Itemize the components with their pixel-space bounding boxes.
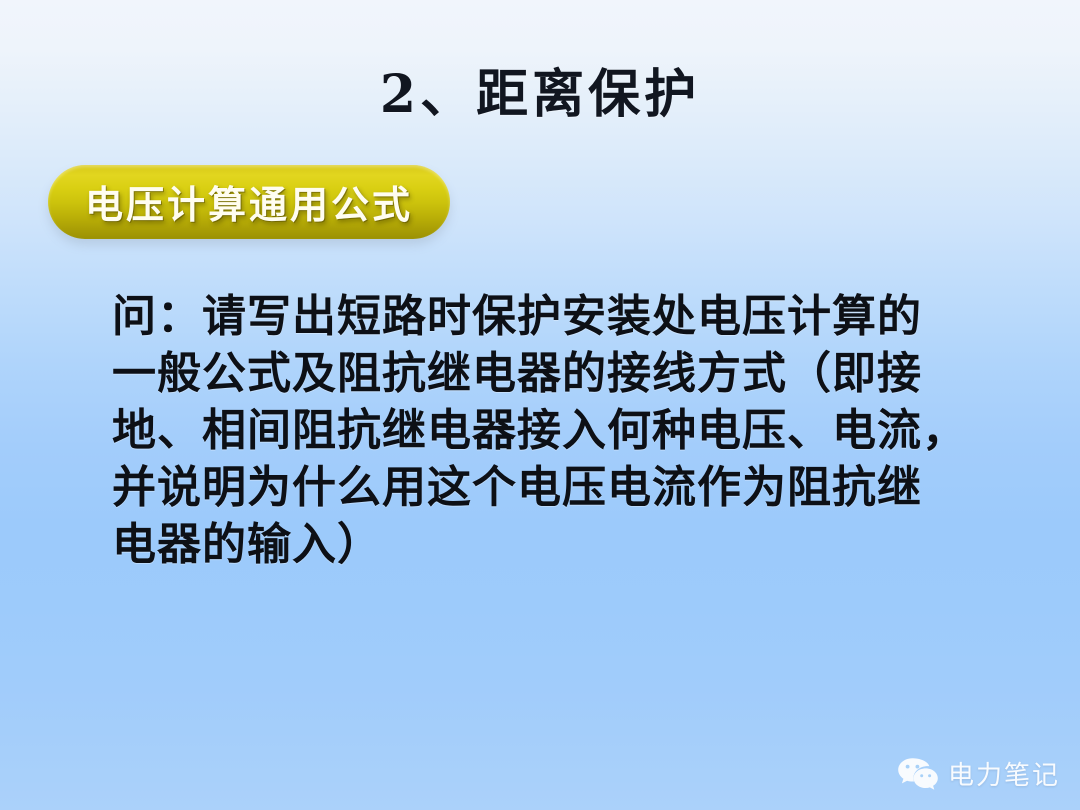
slide-canvas: 2、距离保护 电压计算通用公式 问：请写出短路时保护安装处电压计算的 一般公式及… [0, 0, 1080, 810]
watermark-label: 电力笔记 [948, 755, 1060, 792]
section-badge: 电压计算通用公式 [48, 165, 450, 239]
body-line: 一般公式及阻抗继电器的接线方式（即接 [112, 345, 1002, 402]
section-badge-label: 电压计算通用公式 [85, 174, 413, 231]
body-line: 并说明为什么用这个电压电流作为阻抗继 [112, 459, 1002, 516]
body-line: 地、相间阻抗继电器接入何种电压、电流， [112, 402, 1002, 459]
question-text-block: 问：请写出短路时保护安装处电压计算的 一般公式及阻抗继电器的接线方式（即接 地、… [112, 288, 1002, 573]
page-title: 2、距离保护 [0, 52, 1080, 127]
body-line: 问：请写出短路时保护安装处电压计算的 [112, 288, 1002, 345]
body-line: 电器的输入） [112, 516, 1002, 573]
watermark: 电力笔记 [897, 755, 1060, 792]
wechat-icon [897, 756, 939, 792]
